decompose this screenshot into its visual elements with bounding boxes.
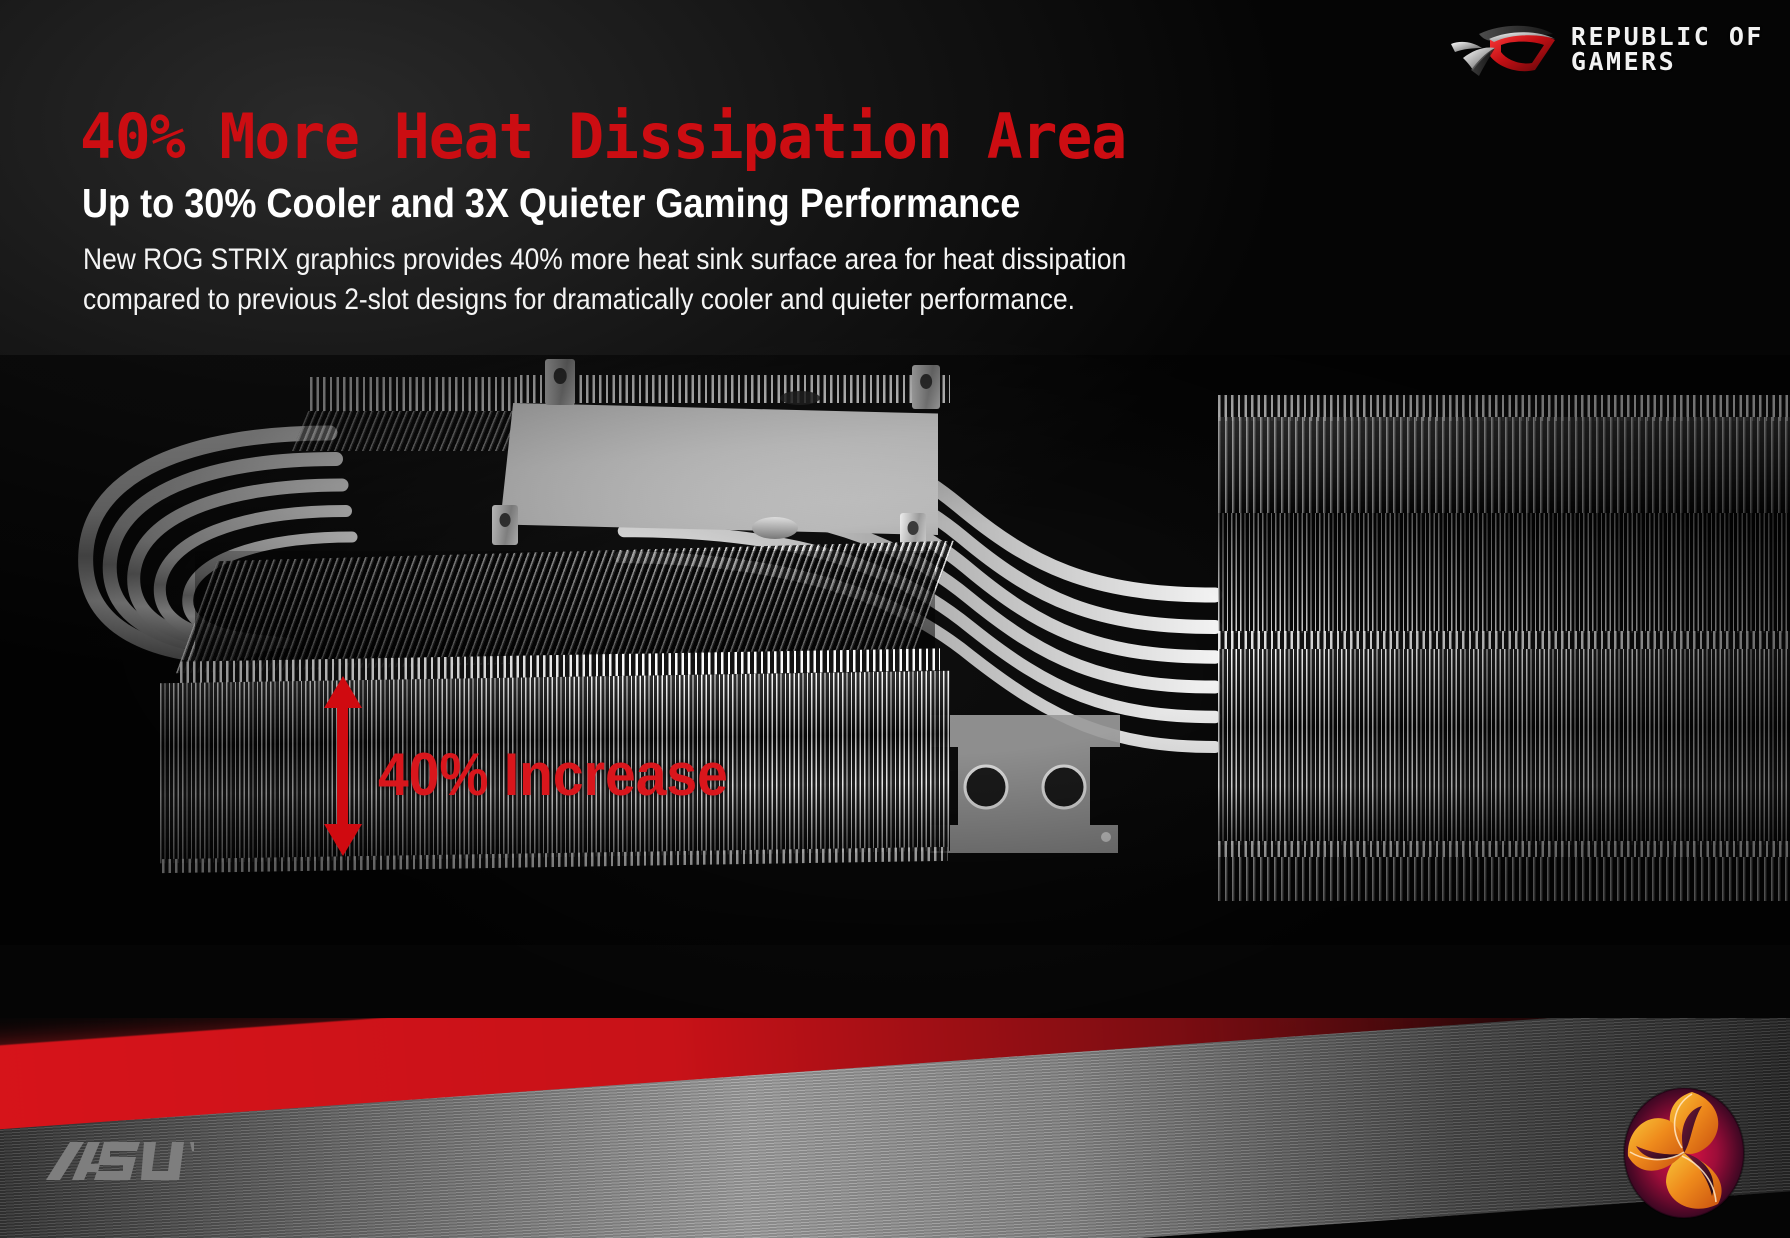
rog-pinwheel-logo <box>1622 1086 1746 1220</box>
fin-comb-upper-left <box>310 377 520 411</box>
fin-comb-right-bottom <box>1218 841 1790 857</box>
rog-wordmark-line1: REPUBLIC OF <box>1571 24 1764 49</box>
fin-comb-right-mid <box>1218 631 1790 649</box>
double-headed-vertical-arrow <box>322 676 362 856</box>
mount-post-right <box>912 365 940 409</box>
footer-band <box>0 1018 1790 1238</box>
fin-stack-right-upper <box>1218 417 1790 513</box>
body-copy: New ROG STRIX graphics provides 40% more… <box>83 240 1315 320</box>
body-line-1: New ROG STRIX graphics provides 40% more… <box>83 240 1315 280</box>
fin-stack-right-mid <box>1218 513 1790 633</box>
rog-header-logo: REPUBLIC OF GAMERS <box>1449 18 1764 80</box>
fin-comb-above-baseplate <box>520 375 950 403</box>
gpu-baseplate <box>500 403 938 535</box>
body-line-2: compared to previous 2-slot designs for … <box>83 280 1315 320</box>
arrow-head-down-icon <box>324 824 362 856</box>
asus-logo <box>44 1140 194 1182</box>
fin-stack-right-foot <box>1218 857 1790 901</box>
arrow-shaft <box>337 702 348 830</box>
fin-stack-upper-left <box>292 411 533 451</box>
gpu-heatsink-photo <box>0 355 1790 945</box>
rog-wordmark-line2: GAMERS <box>1571 49 1764 74</box>
fin-stack-right-lower <box>1218 649 1790 845</box>
rog-eye-logo <box>1449 18 1557 80</box>
increase-callout-label: 40% Increase <box>378 740 728 809</box>
page-title: 40% More Heat Dissipation Area <box>80 100 1126 173</box>
page-subtitle: Up to 30% Cooler and 3X Quieter Gaming P… <box>82 180 1020 227</box>
slide-root: 40% Increase 40% More Heat Dissipation A… <box>0 0 1790 1238</box>
mount-post-left <box>545 359 575 405</box>
mount-post-lower-left <box>492 505 518 545</box>
rog-wordmark: REPUBLIC OF GAMERS <box>1571 24 1764 74</box>
